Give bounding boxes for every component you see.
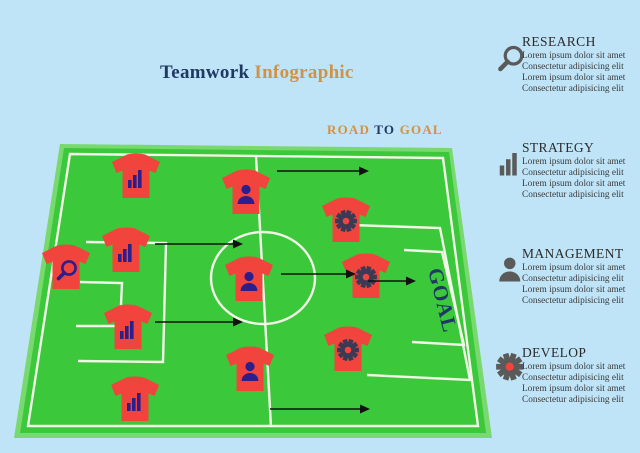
panel-body-line: Consectetur adipisicing elit — [522, 296, 640, 307]
panel-heading-research: RESEARCH — [522, 34, 640, 49]
flow-arrow — [270, 403, 370, 415]
infographic-canvas: Teamwork Infographic ROAD TO GOAL — [0, 0, 640, 453]
panel-text-develop: DEVELOPLorem ipsum dolor sit ametConsect… — [522, 345, 640, 406]
player-jersey-gear — [320, 325, 376, 375]
player-jersey-person — [221, 255, 277, 305]
player-jersey-magnifier — [38, 243, 94, 293]
panel-body-line: Consectetur adipisicing elit — [522, 168, 640, 179]
panel-body-line: Lorem ipsum dolor sit amet — [522, 51, 640, 62]
title-secondary: Infographic — [254, 62, 353, 83]
player-jersey-bar-chart — [107, 375, 163, 425]
player-jersey-person — [222, 345, 278, 395]
flow-arrow — [155, 238, 243, 250]
panel-text-strategy: STRATEGYLorem ipsum dolor sit ametConsec… — [522, 140, 640, 201]
panel-text-management: MANAGEMENTLorem ipsum dolor sit ametCons… — [522, 246, 640, 307]
side-panel: RESEARCHLorem ipsum dolor sit ametConsec… — [492, 0, 640, 453]
player-jersey-bar-chart — [100, 303, 156, 353]
panel-body-line: Consectetur adipisicing elit — [522, 62, 640, 73]
panel-body-line: Lorem ipsum dolor sit amet — [522, 179, 640, 190]
panel-body-line: Consectetur adipisicing elit — [522, 274, 640, 285]
flow-arrow — [368, 275, 416, 287]
panel-body-line: Consectetur adipisicing elit — [522, 190, 640, 201]
panel-body-line: Consectetur adipisicing elit — [522, 373, 640, 384]
player-jersey-bar-chart — [98, 226, 154, 276]
panel-body-line: Lorem ipsum dolor sit amet — [522, 263, 640, 274]
panel-body-line: Lorem ipsum dolor sit amet — [522, 157, 640, 168]
page-title: Teamwork Infographic — [160, 62, 420, 84]
player-jersey-gear — [318, 196, 374, 246]
panel-body-line: Consectetur adipisicing elit — [522, 84, 640, 95]
panel-body-line: Lorem ipsum dolor sit amet — [522, 73, 640, 84]
flow-arrow — [277, 165, 369, 177]
panel-heading-management: MANAGEMENT — [522, 246, 640, 261]
panel-text-research: RESEARCHLorem ipsum dolor sit ametConsec… — [522, 34, 640, 95]
panel-heading-strategy: STRATEGY — [522, 140, 640, 155]
player-jersey-bar-chart — [108, 152, 164, 202]
panel-body-line: Lorem ipsum dolor sit amet — [522, 285, 640, 296]
flow-arrow — [155, 316, 243, 328]
player-jersey-person — [218, 168, 274, 218]
panel-heading-develop: DEVELOP — [522, 345, 640, 360]
title-primary: Teamwork — [160, 62, 249, 83]
panel-body-line: Consectetur adipisicing elit — [522, 395, 640, 406]
panel-body-line: Lorem ipsum dolor sit amet — [522, 384, 640, 395]
flow-arrow — [281, 268, 356, 280]
panel-body-line: Lorem ipsum dolor sit amet — [522, 362, 640, 373]
